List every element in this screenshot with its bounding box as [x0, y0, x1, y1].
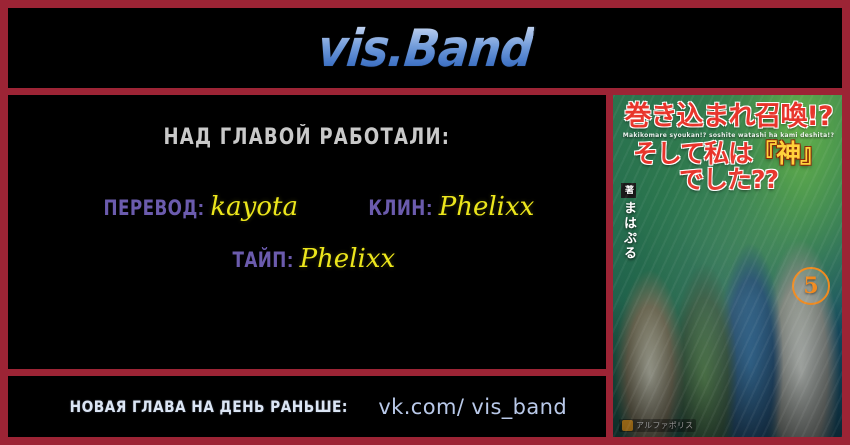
credit-person-name: Phelixx: [439, 192, 535, 222]
brand-logo: vis.Band: [315, 22, 535, 74]
credits-page: vis.Band НАД ГЛАВОЙ РАБОТАЛИ: ПЕРЕВОД:ka…: [0, 0, 850, 445]
footer-panel: НОВАЯ ГЛАВА НА ДЕНЬ РАНЬШЕ: vk.com/ vis_…: [8, 376, 606, 437]
book-cover: 巻き込まれ召喚!? Makikomare syoukan!? soshite w…: [613, 95, 842, 437]
credit-separator: :: [287, 249, 294, 273]
volume-badge: 5: [792, 267, 830, 305]
credits-heading: НАД ГЛАВОЙ РАБОТАЛИ:: [164, 125, 451, 150]
credit-role-label: КЛИН: [368, 196, 425, 220]
credit-typesetter: ТАЙП:Phelixx: [219, 244, 395, 274]
cover-title-line2: そして私は『神』でした??: [621, 141, 836, 194]
credit-role-label: ТАЙП: [232, 248, 286, 272]
divider-top: [8, 88, 842, 95]
credit-separator: :: [426, 197, 433, 221]
credit-person-name: Phelixx: [300, 244, 396, 274]
publisher-mark-icon: [622, 420, 633, 431]
publisher-name: アルファポリス: [636, 420, 693, 431]
credit-rows: ПЕРЕВОД:kayota КЛИН:Phelixx ТАЙП:Phelixx: [8, 192, 606, 296]
credit-cleaner: КЛИН:Phelixx: [354, 192, 534, 222]
cover-title-line2-post: でした??: [679, 165, 778, 194]
credit-row: ПЕРЕВОД:kayota КЛИН:Phelixx: [8, 192, 606, 222]
cover-title-romaji: Makikomare syoukan!? soshite watashi ha …: [621, 133, 836, 139]
header-band: vis.Band: [8, 8, 842, 88]
cover-artwork: [613, 225, 842, 437]
credit-translator: ПЕРЕВОД:kayota: [80, 192, 298, 222]
credit-person-name: kayota: [210, 192, 298, 222]
cover-author-name: まはぷる: [621, 201, 636, 261]
credits-panel: НАД ГЛАВОЙ РАБОТАЛИ: ПЕРЕВОД:kayota КЛИН…: [8, 95, 606, 369]
cover-title-line1: 巻き込まれ召喚!?: [621, 103, 836, 132]
cover-author: 著まはぷる: [619, 183, 638, 261]
cover-title: 巻き込まれ召喚!? Makikomare syoukan!? soshite w…: [621, 103, 836, 194]
cover-title-kami: 『神』: [752, 139, 824, 168]
cover-title-line2-pre: そして私は: [633, 139, 752, 168]
divider-column: [606, 88, 613, 437]
vk-link[interactable]: vk.com/ vis_band: [378, 395, 567, 419]
divider-bottom: [8, 369, 613, 376]
footer-label: НОВАЯ ГЛАВА НА ДЕНЬ РАНЬШЕ:: [70, 397, 348, 416]
credit-role-label: ПЕРЕВОД: [103, 196, 197, 220]
credit-separator: :: [197, 197, 204, 221]
cover-author-mark: 著: [621, 183, 636, 198]
credit-row: ТАЙП:Phelixx: [8, 244, 606, 274]
publisher-logo: アルファポリス: [619, 419, 696, 432]
